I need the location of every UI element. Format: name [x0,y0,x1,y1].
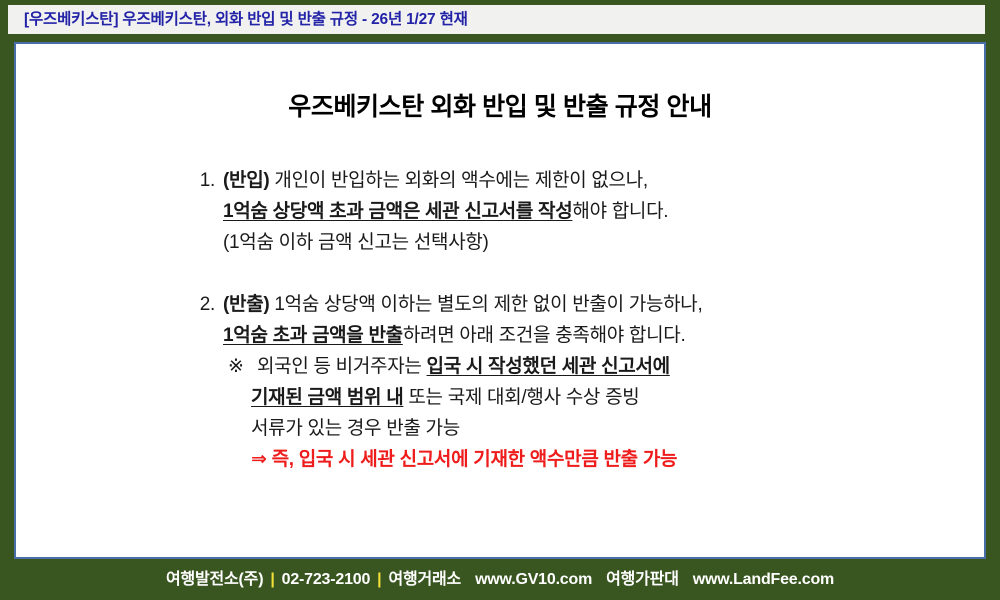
item2-line5: 서류가 있는 경우 반출 가능 [16,413,984,444]
item1-line1-text: 개인이 반입하는 외화의 액수에는 제한이 없으나, [269,170,647,191]
footer-content: 여행발전소(주)|02-723-2100|여행거래소www.GV10.com여행… [166,572,834,588]
reference-mark-icon: ※ [228,351,252,382]
footer-separator-2: | [370,571,388,588]
item2-line1-text: 1억숨 상당액 이하는 별도의 제한 없이 반출이 가능하나, [269,294,702,315]
content-panel: 우즈베키스탄 외화 반입 및 반출 규정 안내 1.(반입) 개인이 반입하는 … [14,42,986,559]
item1-line3: (1억숨 이하 금액 신고는 선택사항) [16,227,984,258]
item2-line6: ⇒ 즉, 입국 시 세관 신고서에 기재한 액수만큼 반출 가능 [16,444,984,475]
list-marker: 1. [191,165,223,196]
footer-company: 여행발전소(주) [166,571,263,588]
item1-line2: 1억숨 상당액 초과 금액은 세관 신고서를 작성해야 합니다. [16,196,984,227]
item2-line2-emphasis: 1억숨 초과 금액을 반출 [223,325,403,346]
item2-line2: 1억숨 초과 금액을 반출하려면 아래 조건을 충족해야 합니다. [16,320,984,351]
footer-phone[interactable]: 02-723-2100 [282,571,371,588]
list-item: 1.(반입) 개인이 반입하는 외화의 액수에는 제한이 없으나, 1억숨 상당… [16,165,984,258]
regulation-list: 1.(반입) 개인이 반입하는 외화의 액수에는 제한이 없으나, 1억숨 상당… [16,165,984,475]
item2-line3-text: 외국인 등 비거주자는 [252,356,427,377]
header-bar: [우즈베키스탄] 우즈베키스탄, 외화 반입 및 반출 규정 - 26년 1/2… [8,5,985,34]
list-item: 2.(반출) 1억숨 상당액 이하는 별도의 제한 없이 반출이 가능하나, 1… [16,289,984,475]
header-title: [우즈베키스탄] 우즈베키스탄, 외화 반입 및 반출 규정 - 26년 1/2… [24,12,468,28]
list-marker: 2. [191,289,223,320]
item1-line2-text: 해야 합니다. [572,201,668,222]
item1-line1-label: (반입) [223,170,269,191]
item2-line4: 기재된 금액 범위 내 또는 국제 대회/행사 수상 증빙 [16,382,984,413]
item2-line1-label: (반출) [223,294,269,315]
conclusion-text: ⇒ 즉, 입국 시 세관 신고서에 기재한 액수만큼 반출 가능 [251,449,677,470]
footer-partner1-name: 여행거래소 [388,571,461,588]
item1-line2-emphasis: 1억숨 상당액 초과 금액은 세관 신고서를 작성 [223,201,572,222]
item2-line4-emphasis: 기재된 금액 범위 내 [251,387,403,408]
item2-line5-text: 서류가 있는 경우 반출 가능 [251,418,460,439]
footer-partner1-url[interactable]: www.GV10.com [475,571,592,588]
item1-line3-text: (1억숨 이하 금액 신고는 선택사항) [223,232,489,253]
item2-line4-text: 또는 국제 대회/행사 수상 증빙 [403,387,639,408]
slide-root: [우즈베키스탄] 우즈베키스탄, 외화 반입 및 반출 규정 - 26년 1/2… [0,0,1000,600]
footer-bar: 여행발전소(주)|02-723-2100|여행거래소www.GV10.com여행… [0,559,1000,600]
item2-line1: 2.(반출) 1억숨 상당액 이하는 별도의 제한 없이 반출이 가능하나, [16,289,984,320]
page-title: 우즈베키스탄 외화 반입 및 반출 규정 안내 [16,92,984,122]
footer-separator-1: | [263,571,281,588]
item2-line2-text: 하려면 아래 조건을 충족해야 합니다. [403,325,686,346]
footer-partner2-url[interactable]: www.LandFee.com [693,571,834,588]
item2-line3-emphasis: 입국 시 작성했던 세관 신고서에 [427,356,670,377]
item1-line1: 1.(반입) 개인이 반입하는 외화의 액수에는 제한이 없으나, [16,165,984,196]
item2-line3: ※ 외국인 등 비거주자는 입국 시 작성했던 세관 신고서에 [16,351,984,382]
footer-partner2-name: 여행가판대 [606,571,679,588]
